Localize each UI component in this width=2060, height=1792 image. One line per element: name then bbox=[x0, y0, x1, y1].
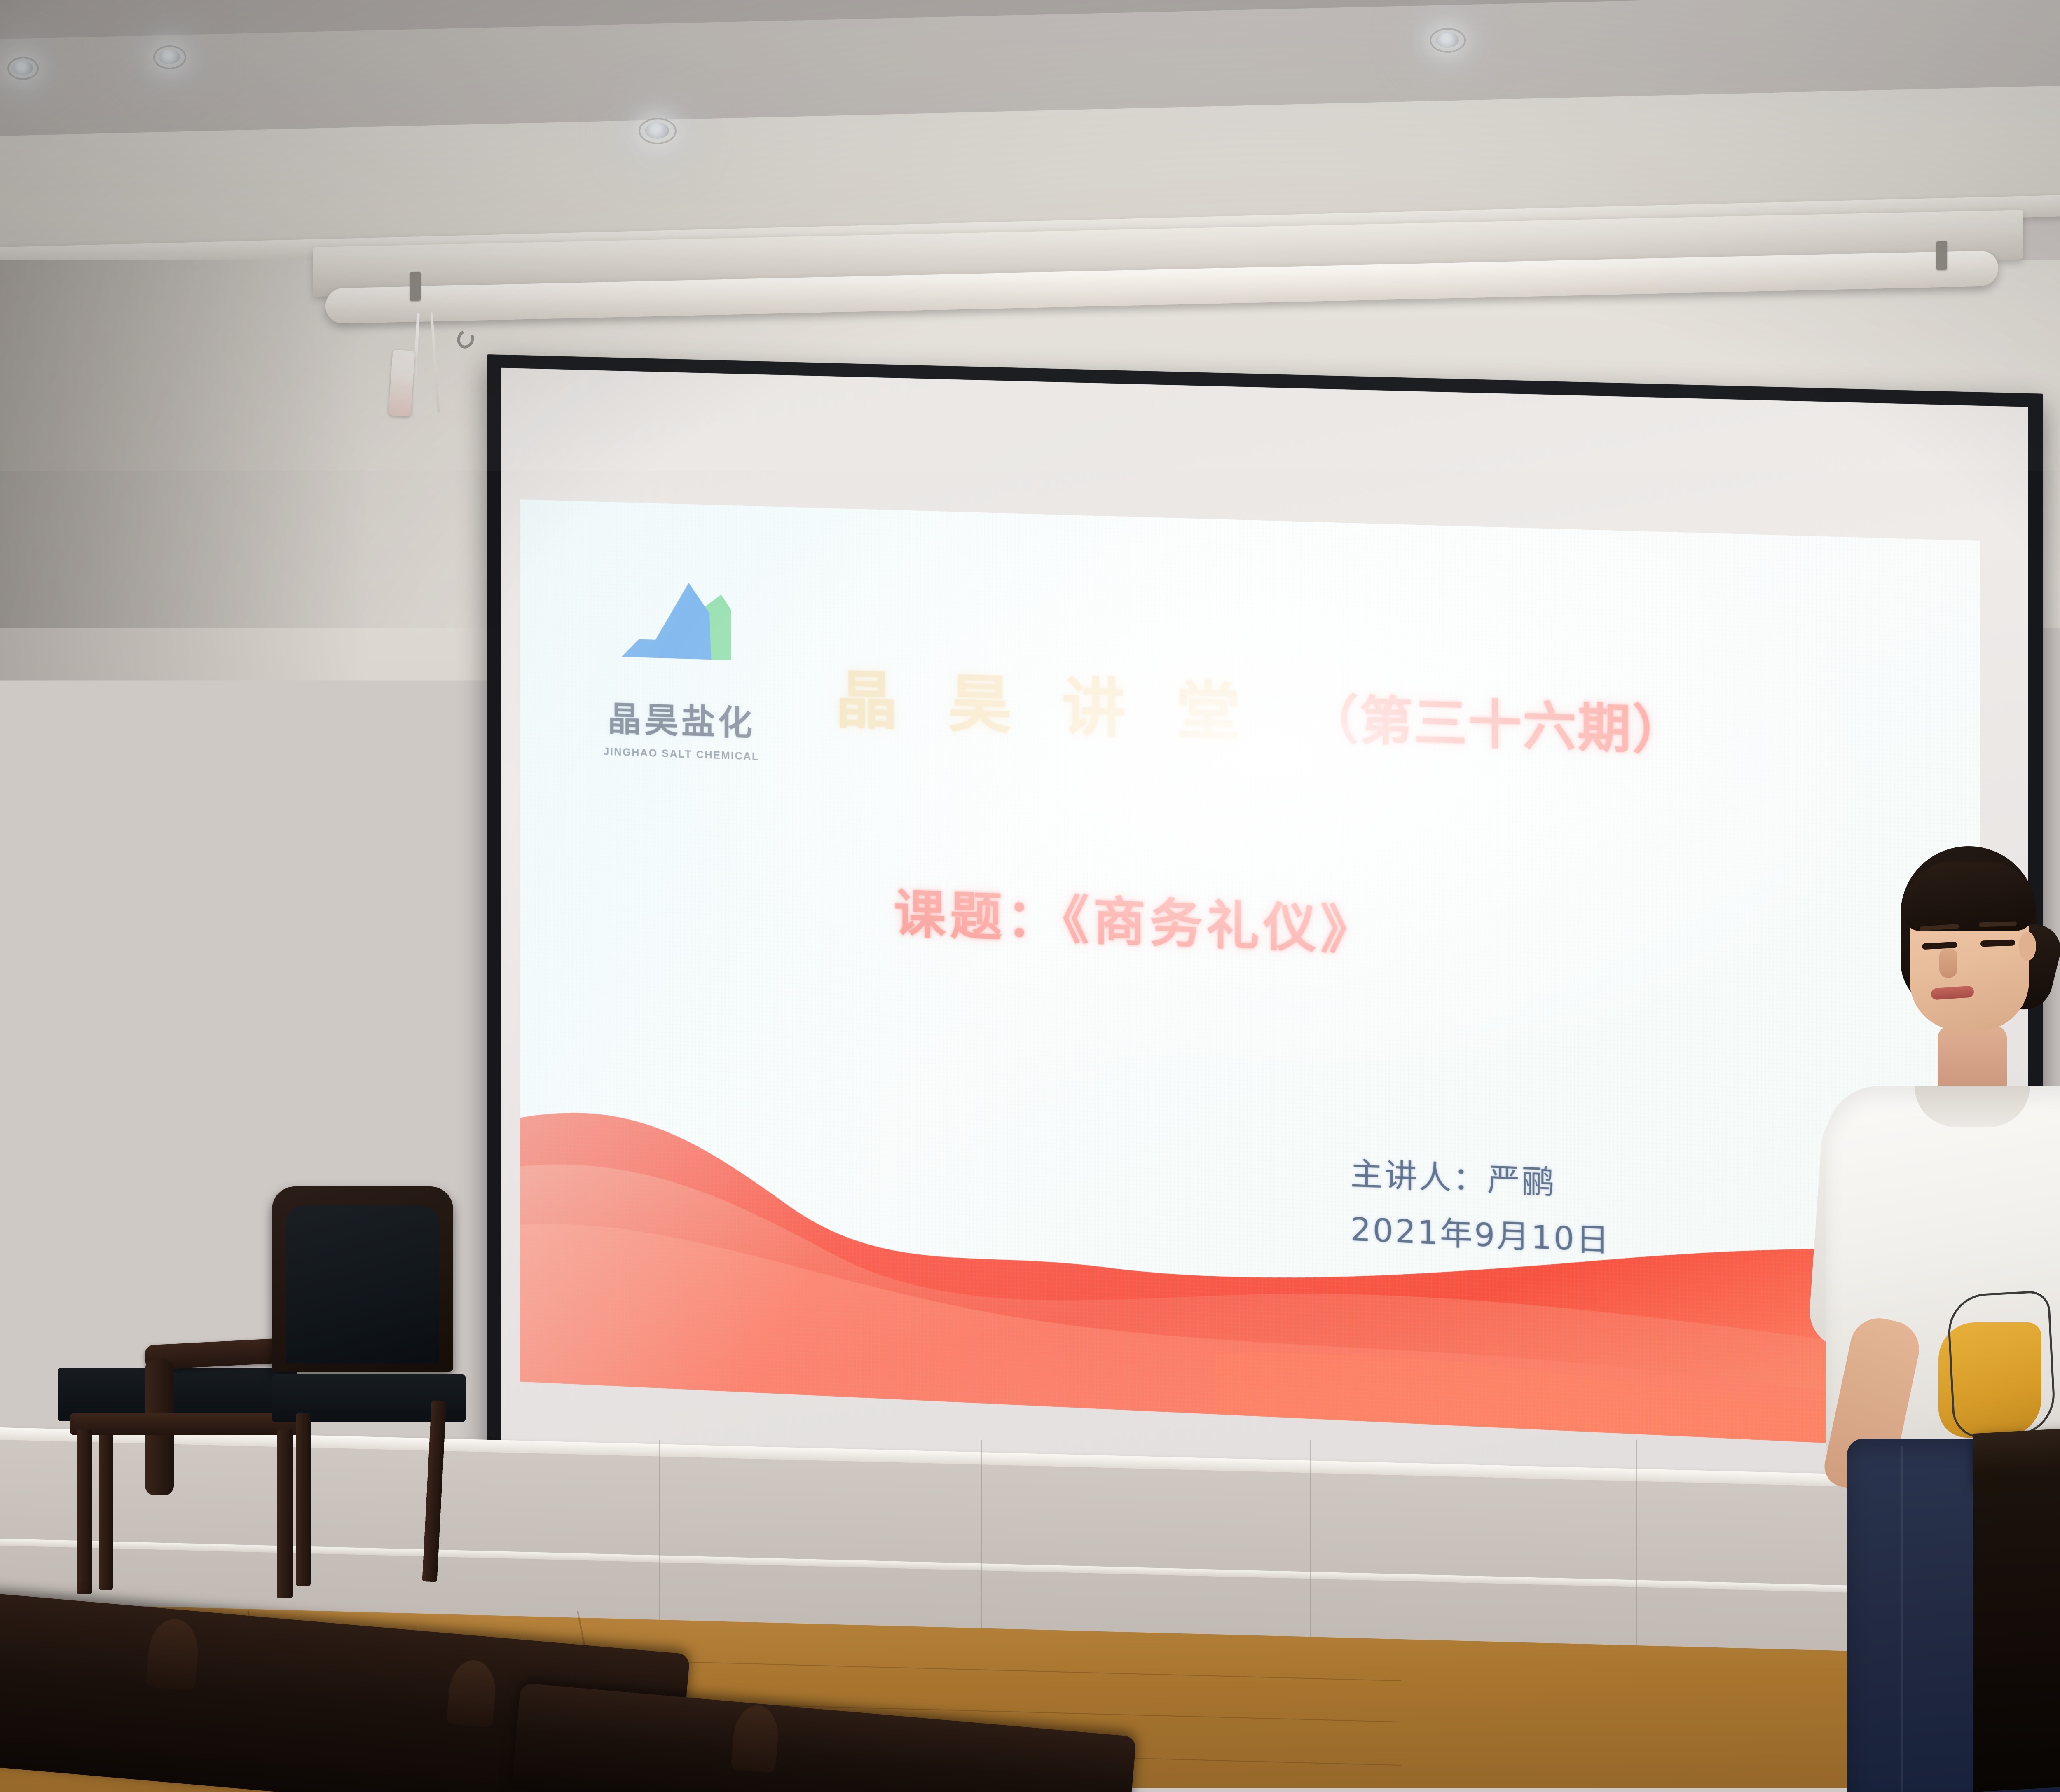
company-logo: 晶昊盐化 JINGHAO SALT CHEMICAL bbox=[592, 575, 770, 764]
ceiling-downlight-ring bbox=[639, 118, 677, 144]
slide-title-row: 晶 昊 讲 堂 （第三十六期） bbox=[835, 650, 1929, 776]
slide-title-issue: （第三十六期） bbox=[1306, 676, 1687, 765]
mountain-logo-icon bbox=[606, 575, 756, 692]
ceiling-downlight-ring bbox=[1430, 28, 1466, 53]
chair-leg bbox=[99, 1413, 113, 1590]
slide-title-main: 晶 昊 讲 堂 bbox=[835, 650, 1254, 753]
logo-chinese-name: 晶昊盐化 bbox=[592, 690, 770, 746]
wainscot-seam bbox=[1636, 1440, 1637, 1654]
chair-leg bbox=[77, 1429, 92, 1594]
desk-front-panel bbox=[1973, 1436, 2060, 1792]
slide-presenter-block: 主讲人：严鹂 2021年9月10日 bbox=[1351, 1148, 1611, 1261]
logo-english-name: JINGHAO SALT CHEMICAL bbox=[592, 746, 770, 764]
presenter-hair-fringe bbox=[1904, 862, 2036, 931]
chair-front-rail bbox=[70, 1413, 301, 1435]
roller-bracket-left bbox=[410, 272, 421, 301]
wainscot-seam bbox=[981, 1440, 982, 1654]
chair-leg bbox=[277, 1429, 293, 1598]
ceiling-downlight-ring bbox=[7, 57, 39, 80]
skirt-fold bbox=[1901, 1446, 1903, 1792]
chair-leg bbox=[296, 1413, 311, 1586]
wainscot-seam bbox=[1310, 1440, 1311, 1654]
ceiling-downlight-ring bbox=[153, 45, 186, 69]
presenter-nose bbox=[1939, 948, 1957, 978]
logo-mark-icon bbox=[606, 575, 756, 692]
screen-pull-handle[interactable] bbox=[388, 349, 415, 416]
conference-room-scene: JIEHE bbox=[0, 0, 2060, 1792]
presenter-ear bbox=[2019, 932, 2036, 961]
presenter-eye bbox=[1980, 940, 2015, 947]
roller-bracket-right bbox=[1936, 241, 1947, 270]
presenter-shirt-graphic-outline bbox=[1946, 1290, 2057, 1440]
chair-back-cushion bbox=[81, 1189, 266, 1355]
chair-back-cushion bbox=[286, 1205, 439, 1364]
slide-subject-line: 课题：《商务礼仪》 bbox=[894, 872, 1377, 965]
